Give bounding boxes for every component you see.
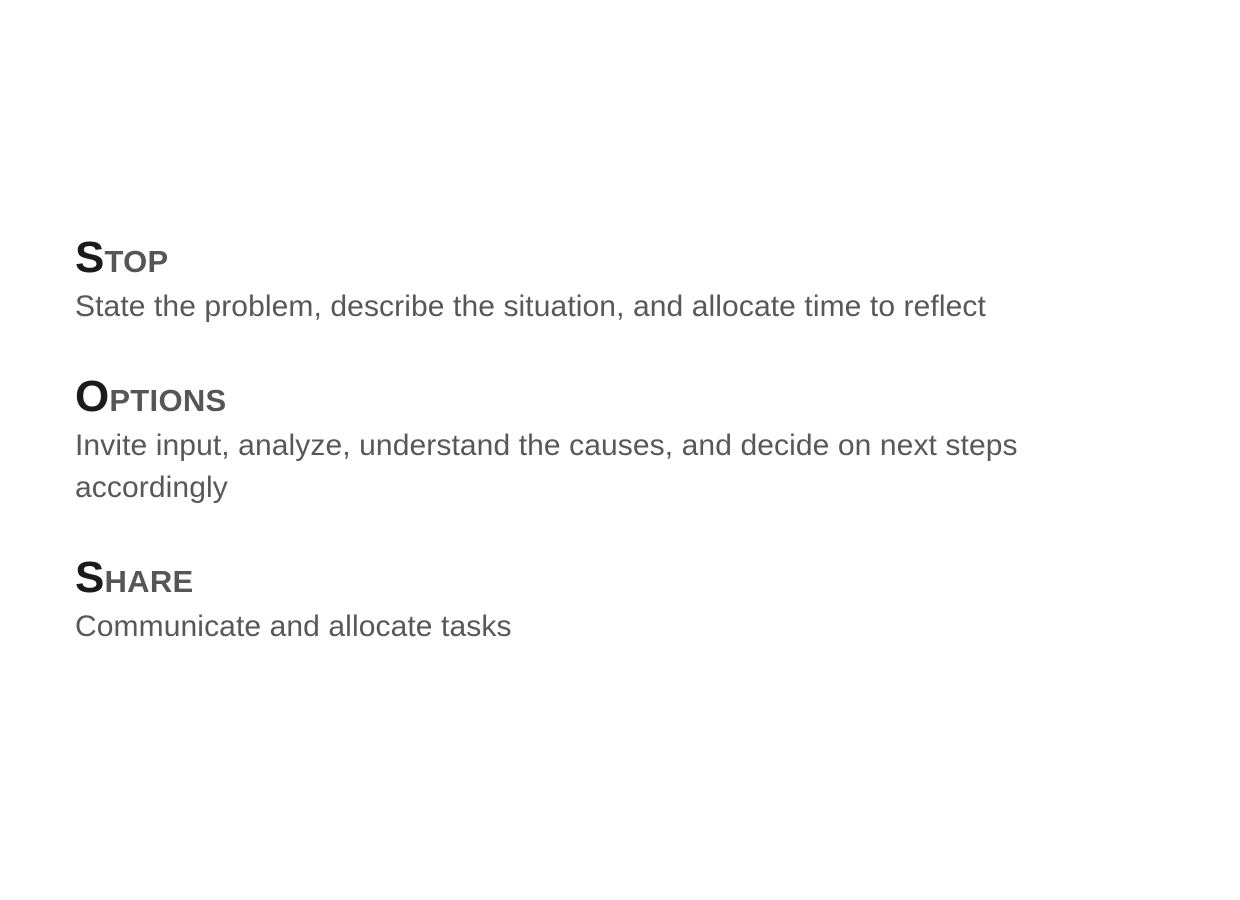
- list-item-share: SHARE Communicate and allocate tasks: [75, 556, 1185, 649]
- list-item-stop: STOP State the problem, describe the sit…: [75, 236, 1185, 329]
- content-list: STOP State the problem, describe the sit…: [75, 236, 1185, 648]
- list-item-options: OPTIONS Invite input, analyze, understan…: [75, 375, 1185, 510]
- heading-initial-letter: S: [75, 553, 104, 602]
- heading-initial-letter: O: [75, 372, 109, 421]
- block-heading-share: SHARE: [75, 556, 1185, 600]
- heading-initial-letter: S: [75, 233, 104, 282]
- block-body-share: Communicate and allocate tasks: [75, 606, 1175, 649]
- heading-remaining-letters: PTIONS: [109, 383, 226, 418]
- block-body-options: Invite input, analyze, understand the ca…: [75, 425, 1175, 510]
- heading-remaining-letters: TOP: [104, 244, 168, 279]
- block-heading-options: OPTIONS: [75, 375, 1185, 419]
- block-heading-stop: STOP: [75, 236, 1185, 280]
- slide-canvas: STOP State the problem, describe the sit…: [0, 0, 1240, 900]
- heading-remaining-letters: HARE: [104, 564, 193, 599]
- block-body-stop: State the problem, describe the situatio…: [75, 286, 1175, 329]
